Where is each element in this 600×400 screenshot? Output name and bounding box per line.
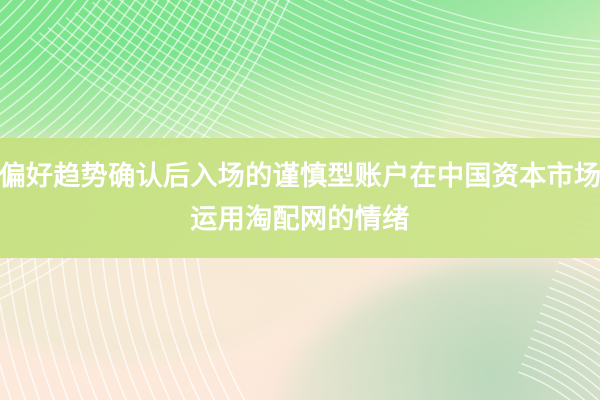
headline-line-2: 运用淘配网的情绪 — [190, 198, 409, 241]
headline-band: 偏好趋势确认后入场的谨慎型账户在中国资本市场 运用淘配网的情绪 — [0, 138, 600, 258]
promotional-banner: 偏好趋势确认后入场的谨慎型账户在中国资本市场 运用淘配网的情绪 — [0, 0, 600, 400]
headline-line-1: 偏好趋势确认后入场的谨慎型账户在中国资本市场 — [0, 155, 600, 198]
